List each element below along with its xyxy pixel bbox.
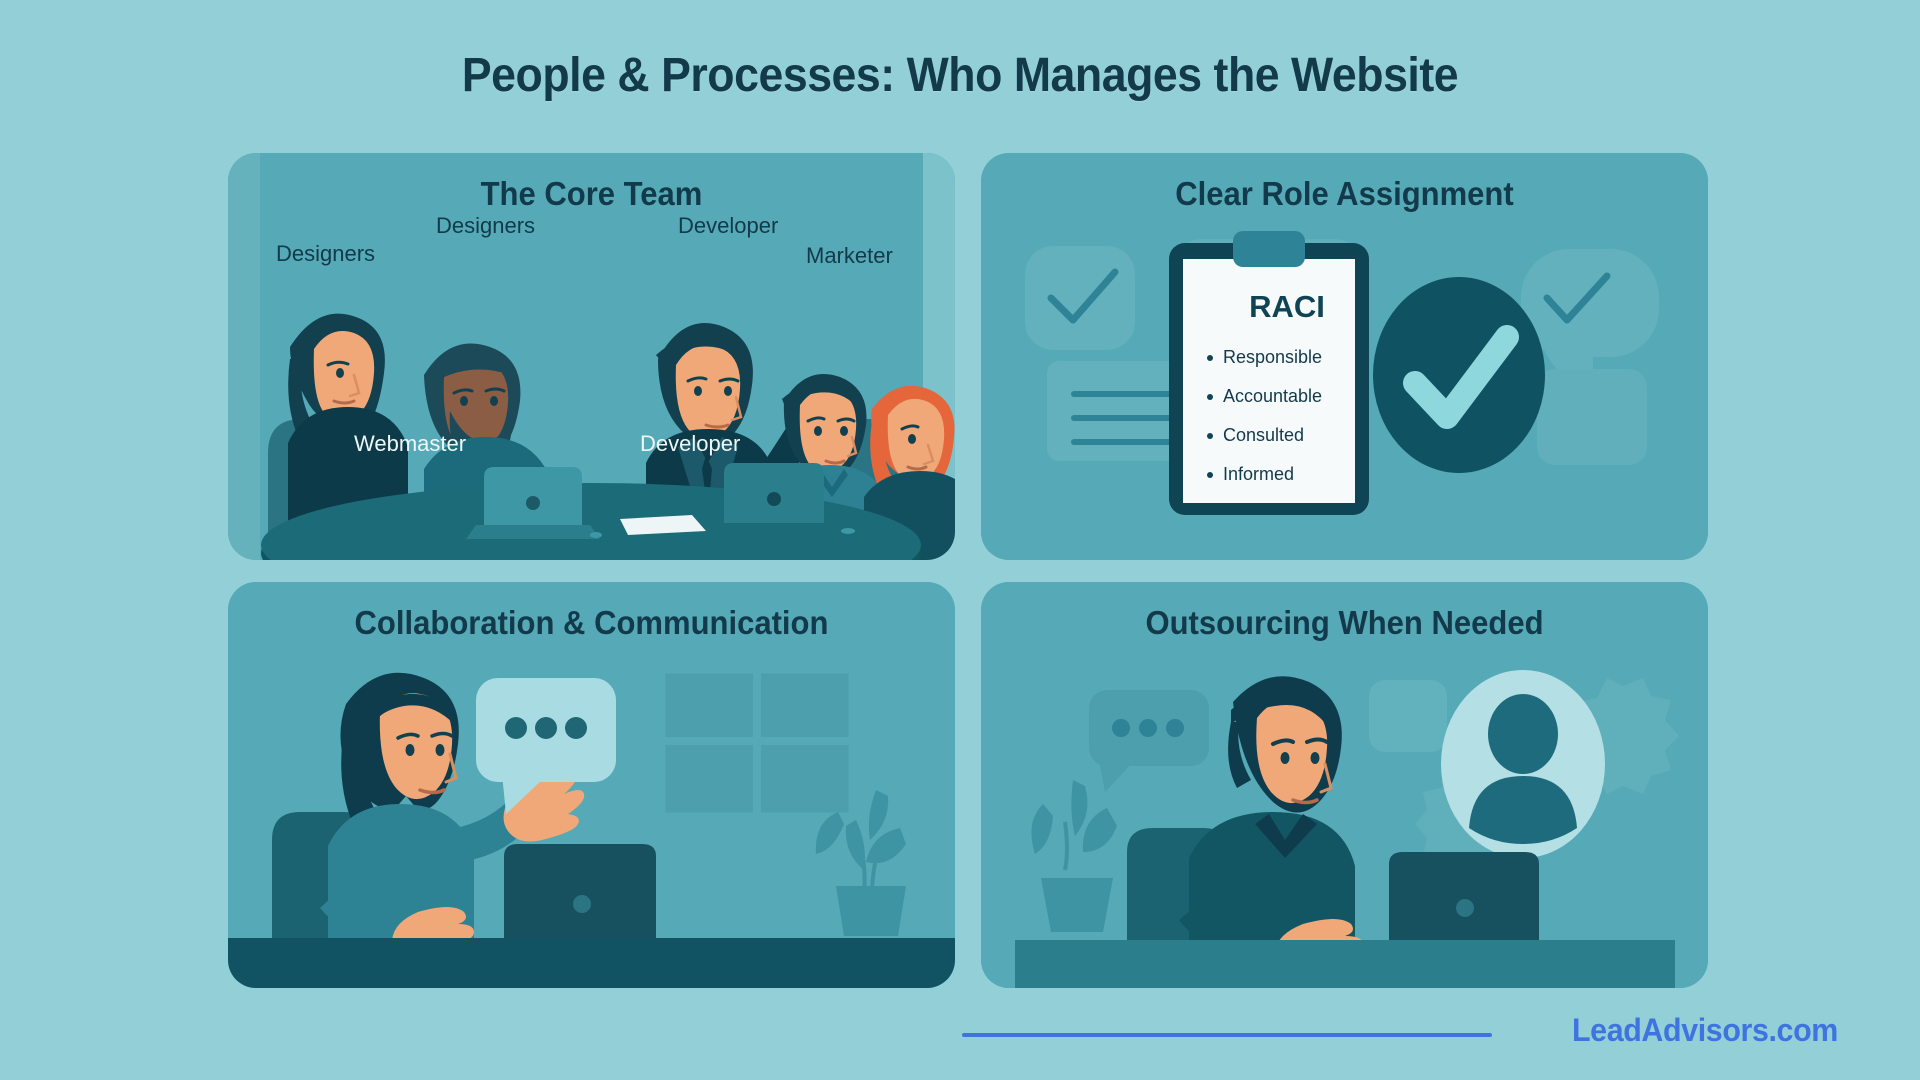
footer: LeadAdvisors.com (0, 1006, 1920, 1056)
panel-title-outsourcing-when-needed: Outsourcing When Needed (1003, 604, 1686, 642)
outsourcing-illustration (981, 582, 1708, 989)
panel-clear-role-assignment: Clear Role Assignment RACI Responsible A… (981, 153, 1708, 560)
role-label-webmaster: Webmaster (354, 431, 466, 457)
check-circle (1373, 277, 1545, 473)
panel-grid: The Core Team Designers Designers Develo… (228, 153, 1708, 988)
bullet-icon (1207, 472, 1213, 478)
bullet-icon (1207, 433, 1213, 439)
core-team-illustration (228, 153, 955, 560)
footer-divider-line (962, 1033, 1492, 1037)
bullet-icon (1207, 394, 1213, 400)
raci-item-informed: Informed (1207, 464, 1389, 485)
clipboard-heading: RACI (1185, 289, 1389, 325)
panel-collaboration-communication: Collaboration & Communication (228, 582, 955, 989)
raci-item-responsible: Responsible (1207, 347, 1389, 368)
collaboration-illustration (228, 582, 955, 989)
check-square-decoration (1025, 246, 1135, 350)
clipboard-content: RACI Responsible Accountable Consulted I… (1185, 261, 1389, 485)
bullet-icon (1207, 355, 1213, 361)
brand-leadadvisors[interactable]: LeadAdvisors.com (1572, 1012, 1838, 1049)
avatar-badge (1441, 670, 1605, 858)
page-title: People & Processes: Who Manages the Webs… (67, 48, 1853, 103)
panel-title-collaboration-communication: Collaboration & Communication (250, 604, 933, 642)
window-decoration (662, 670, 852, 816)
panel-title-clear-role-assignment: Clear Role Assignment (1003, 175, 1686, 213)
raci-item-accountable: Accountable (1207, 386, 1389, 407)
panel-outsourcing-when-needed: Outsourcing When Needed (981, 582, 1708, 989)
raci-item-consulted: Consulted (1207, 425, 1389, 446)
role-label-designers-2: Designers (436, 213, 535, 239)
role-label-developer-table: Developer (640, 431, 740, 457)
panel-core-team: The Core Team Designers Designers Develo… (228, 153, 955, 560)
role-label-developer-top: Developer (678, 213, 778, 239)
panel-title-core-team: The Core Team (250, 175, 933, 213)
role-label-designers-1: Designers (276, 241, 375, 267)
role-label-marketer: Marketer (806, 243, 893, 269)
